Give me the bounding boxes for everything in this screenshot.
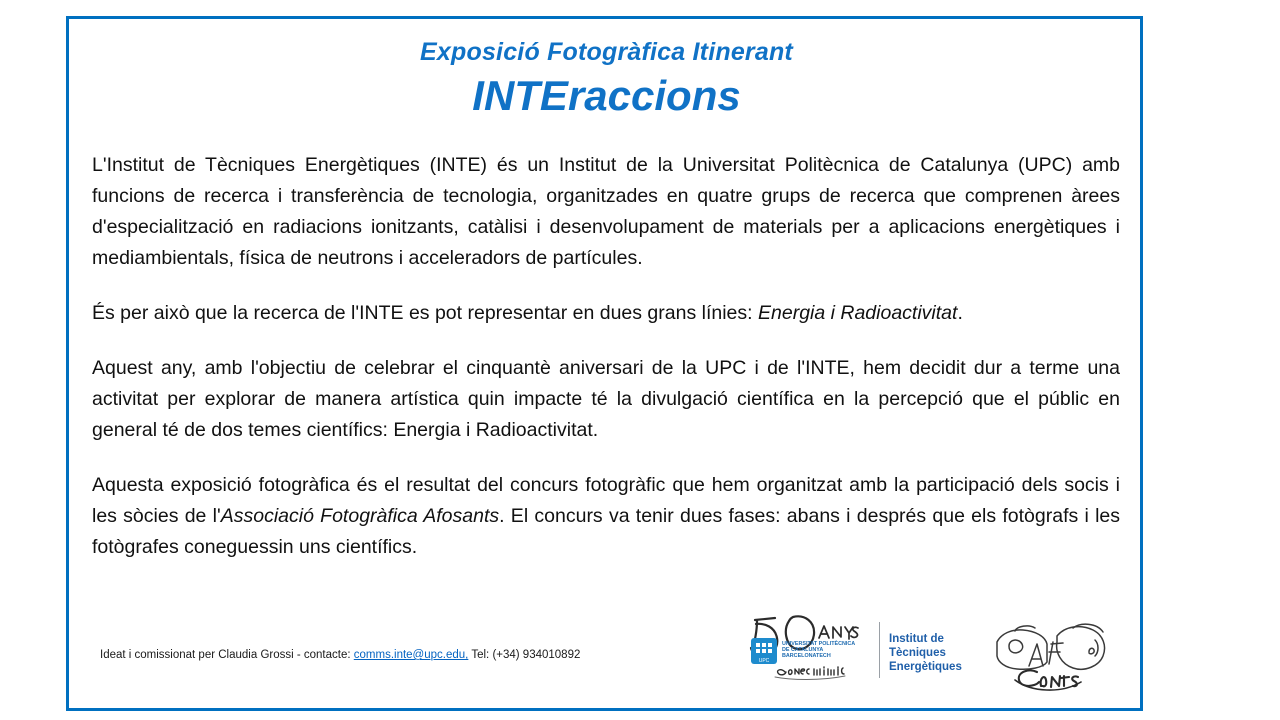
paragraph-2-text-tail: . [957, 302, 962, 324]
inte-wordmark-line-1: Institut de Tècniques [889, 632, 999, 660]
logo-divider [879, 622, 880, 678]
contact-email-link[interactable]: comms.inte@upc.edu, [354, 649, 469, 661]
afosants-logo-text: Sants [1125, 614, 1126, 615]
paragraph-4-emphasis: Associació Fotogràfica Afosants [221, 505, 499, 527]
svg-text:BARCELONATECH: BARCELONATECH [782, 653, 831, 659]
inte-wordmark-line-2: Energètiques [889, 660, 999, 674]
paragraph-1-text: L'Institut de Tècniques Energètiques (IN… [92, 154, 1120, 269]
page-title: INTEraccions [66, 69, 1147, 123]
paragraph-anniversary-activity: Aquest any, amb l'objectiu de celebrar e… [92, 353, 1120, 446]
paragraph-research-lines: És per això que la recerca de l'INTE es … [92, 298, 1120, 329]
slide-canvas: Exposició Fotogràfica Itinerant INTEracc… [0, 0, 1280, 720]
title-block: Exposició Fotogràfica Itinerant INTEracc… [66, 36, 1147, 123]
exhibition-subtitle: Exposició Fotogràfica Itinerant [66, 36, 1147, 68]
body-text-container: L'Institut de Tècniques Energètiques (IN… [92, 150, 1120, 563]
svg-text:UPC: UPC [759, 658, 770, 664]
camera-sketch-icon [985, 614, 1125, 699]
paragraph-2-emphasis: Energia i Radioactivitat [758, 302, 957, 324]
svg-text:UNIVERSITAT POLITÈCNICA: UNIVERSITAT POLITÈCNICA [782, 639, 855, 647]
inte-wordmark-logo: Institut de Tècniques Energètiques [889, 632, 999, 674]
upc-50-anys-logo-icon: UPC UNIVERSITAT POLITÈCNICA DE CATALUNYA… [745, 612, 865, 684]
upc-50-anys-tagline: sense límits [865, 612, 866, 613]
paragraph-photo-contest: Aquesta exposició fotogràfica és el resu… [92, 470, 1120, 563]
credit-text-before: Ideat i comissionat per Claudia Grossi -… [100, 649, 354, 661]
paragraph-institute-description: L'Institut de Tècniques Energètiques (IN… [92, 150, 1120, 274]
afosants-logo: Sants [985, 614, 1125, 699]
credit-text-after: Tel: (+34) 934010892 [468, 649, 580, 661]
logo-strip: UPC UNIVERSITAT POLITÈCNICA DE CATALUNYA… [745, 612, 1145, 707]
footer-credit-line: Ideat i comissionat per Claudia Grossi -… [100, 649, 580, 661]
paragraph-3-text: Aquest any, amb l'objectiu de celebrar e… [92, 357, 1120, 441]
upc-50-anys-logo: UPC UNIVERSITAT POLITÈCNICA DE CATALUNYA… [745, 612, 865, 684]
paragraph-2-text-lead: És per això que la recerca de l'INTE es … [92, 302, 758, 324]
